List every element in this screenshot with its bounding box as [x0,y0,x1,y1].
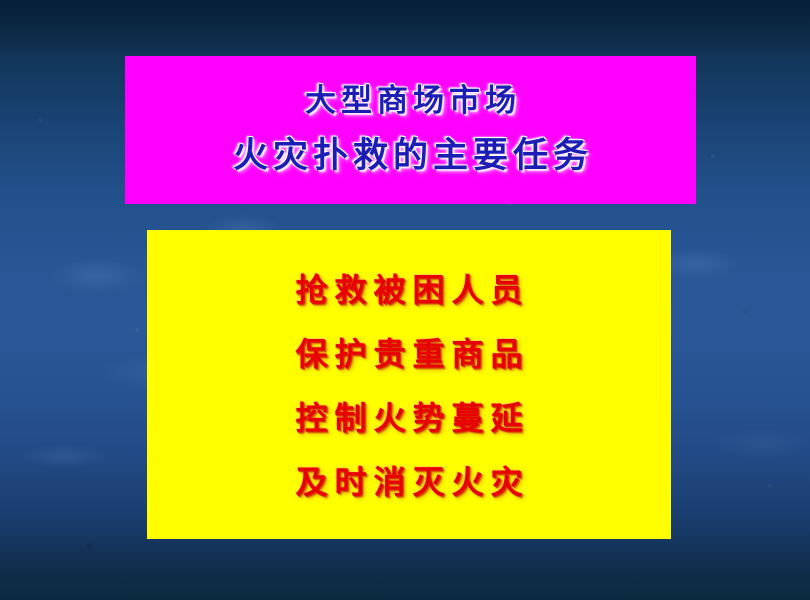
title-panel: 大型商场市场 火灾扑救的主要任务 [125,56,696,204]
title-line-2: 火灾扑救的主要任务 [228,139,593,174]
body-line-4: 及时消灭火灾 [288,466,529,498]
title-line-1: 大型商场市场 [300,86,521,117]
presentation-slide: 大型商场市场 火灾扑救的主要任务 抢救被困人员 保护贵重商品 控制火势蔓延 及时… [0,0,810,600]
body-line-1: 抢救被困人员 [288,274,529,306]
body-line-3: 控制火势蔓延 [288,402,529,434]
body-panel: 抢救被困人员 保护贵重商品 控制火势蔓延 及时消灭火灾 [147,230,671,539]
body-line-2: 保护贵重商品 [288,338,529,370]
